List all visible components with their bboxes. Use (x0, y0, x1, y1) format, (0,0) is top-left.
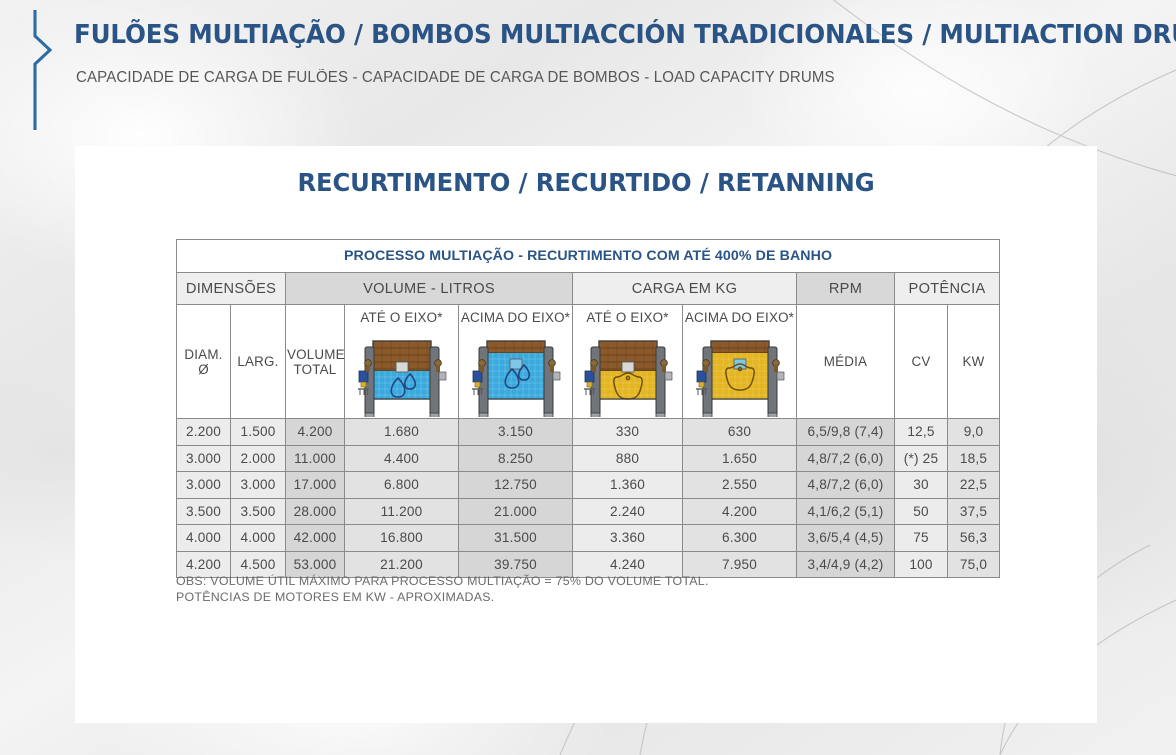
cell-vol_ate: 16.800 (345, 525, 459, 552)
cell-kw: 56,3 (948, 525, 1000, 552)
table-column-header-carga_ate: ATÉ O EIXO* (573, 305, 683, 419)
cell-carga_ate: 1.360 (573, 472, 683, 499)
cell-carga_ate: 330 (573, 419, 683, 446)
cell-rpm: 6,5/9,8 (7,4) (797, 419, 895, 446)
cell-cv: 50 (895, 498, 948, 525)
cell-vol_total: 17.000 (286, 472, 345, 499)
cell-larg: 1.500 (231, 419, 286, 446)
table-column-header-vol_total: VOLUME TOTAL (286, 305, 345, 419)
page-title: FULÕES MULTIAÇÃO / BOMBOS MULTIACCIÓN TR… (74, 20, 1136, 50)
table-column-header-vol_acima: ACIMA DO EIXO* (459, 305, 573, 419)
cell-carga_acima: 6.300 (683, 525, 797, 552)
cell-vol_acima: 21.000 (459, 498, 573, 525)
cell-vol_ate: 11.200 (345, 498, 459, 525)
cell-diam: 3.500 (177, 498, 231, 525)
cell-kw: 18,5 (948, 445, 1000, 472)
cell-larg: 3.000 (231, 472, 286, 499)
cell-kw: 22,5 (948, 472, 1000, 499)
cell-carga_ate: 880 (573, 445, 683, 472)
cell-diam: 3.000 (177, 472, 231, 499)
section-title: RECURTIMENTO / RECURTIDO / RETANNING (90, 168, 1081, 197)
cell-carga_ate: 2.240 (573, 498, 683, 525)
table-banner-row: PROCESSO MULTIAÇÃO - RECURTIMENTO COM AT… (177, 240, 1000, 273)
table-column-header-larg: LARG. (231, 305, 286, 419)
cell-kw: 75,0 (948, 551, 1000, 578)
table-row: 3.5003.50028.00011.20021.0002.2404.2004,… (177, 498, 1000, 525)
table-banner: PROCESSO MULTIAÇÃO - RECURTIMENTO COM AT… (177, 240, 1000, 273)
cell-cv: 75 (895, 525, 948, 552)
table-column-header-kw: KW (948, 305, 1000, 419)
column-caption-vol_acima: ACIMA DO EIXO* (459, 310, 572, 325)
cell-vol_acima: 3.150 (459, 419, 573, 446)
table-group-header-row: DIMENSÕESVOLUME - LITROSCARGA EM KGRPMPO… (177, 273, 1000, 305)
table-group-header-pot-ncia: POTÊNCIA (895, 273, 1000, 305)
cell-cv: (*) 25 (895, 445, 948, 472)
drum-water-high-icon (459, 333, 572, 417)
cell-rpm: 4,8/7,2 (6,0) (797, 472, 895, 499)
page-subtitle: CAPACIDADE DE CARGA DE FULÕES - CAPACIDA… (76, 69, 835, 87)
drum-leather-high-icon (683, 333, 796, 417)
table-column-header-rpm: MÉDIA (797, 305, 895, 419)
cell-rpm: 4,1/6,2 (5,1) (797, 498, 895, 525)
table-group-header-volume-litros: VOLUME - LITROS (286, 273, 573, 305)
content-card: RECURTIMENTO / RECURTIDO / RETANNING PRO… (75, 146, 1097, 723)
cell-larg: 2.000 (231, 445, 286, 472)
cell-cv: 12,5 (895, 419, 948, 446)
cell-carga_acima: 1.650 (683, 445, 797, 472)
cell-vol_total: 42.000 (286, 525, 345, 552)
cell-rpm: 3,6/5,4 (4,5) (797, 525, 895, 552)
table-row: 3.0002.00011.0004.4008.2508801.6504,8/7,… (177, 445, 1000, 472)
cell-cv: 30 (895, 472, 948, 499)
table-footnote: OBS: VOLUME ÚTIL MÁXIMO PARA PROCESSO MU… (176, 574, 709, 605)
table-row: 2.2001.5004.2001.6803.1503306306,5/9,8 (… (177, 419, 1000, 446)
table-column-header-carga_acima: ACIMA DO EIXO* (683, 305, 797, 419)
cell-vol_acima: 8.250 (459, 445, 573, 472)
column-caption-carga_ate: ATÉ O EIXO* (573, 310, 682, 325)
cell-vol_total: 11.000 (286, 445, 345, 472)
table-column-header-vol_ate: ATÉ O EIXO* (345, 305, 459, 419)
cell-diam: 3.000 (177, 445, 231, 472)
cell-carga_ate: 3.360 (573, 525, 683, 552)
cell-kw: 9,0 (948, 419, 1000, 446)
cell-carga_acima: 4.200 (683, 498, 797, 525)
cell-vol_acima: 31.500 (459, 525, 573, 552)
cell-larg: 4.000 (231, 525, 286, 552)
cell-diam: 4.000 (177, 525, 231, 552)
capacity-table: PROCESSO MULTIAÇÃO - RECURTIMENTO COM AT… (176, 239, 1000, 578)
drum-leather-low-icon (573, 333, 682, 417)
table-column-header-diam: DIAM. Ø (177, 305, 231, 419)
column-caption-carga_acima: ACIMA DO EIXO* (683, 310, 796, 325)
cell-vol_total: 28.000 (286, 498, 345, 525)
cell-vol_acima: 12.750 (459, 472, 573, 499)
cell-rpm: 3,4/4,9 (4,2) (797, 551, 895, 578)
table-group-header-rpm: RPM (797, 273, 895, 305)
table-column-header-row: DIAM. ØLARG.VOLUME TOTALATÉ O EIXO* (177, 305, 1000, 419)
cell-cv: 100 (895, 551, 948, 578)
table-group-header-carga-em-kg: CARGA EM KG (573, 273, 797, 305)
chevron-accent-icon (26, 6, 58, 134)
cell-vol_ate: 4.400 (345, 445, 459, 472)
column-caption-vol_ate: ATÉ O EIXO* (345, 310, 458, 325)
table-row: 3.0003.00017.0006.80012.7501.3602.5504,8… (177, 472, 1000, 499)
cell-vol_ate: 6.800 (345, 472, 459, 499)
page-header: FULÕES MULTIAÇÃO / BOMBOS MULTIACCIÓN TR… (0, 0, 1176, 140)
table-group-header-dimens-es: DIMENSÕES (177, 273, 286, 305)
cell-vol_ate: 1.680 (345, 419, 459, 446)
cell-vol_total: 4.200 (286, 419, 345, 446)
table-row: 4.0004.00042.00016.80031.5003.3606.3003,… (177, 525, 1000, 552)
cell-diam: 2.200 (177, 419, 231, 446)
cell-carga_acima: 630 (683, 419, 797, 446)
cell-kw: 37,5 (948, 498, 1000, 525)
cell-carga_acima: 2.550 (683, 472, 797, 499)
drum-water-low-icon (345, 333, 458, 417)
table-column-header-cv: CV (895, 305, 948, 419)
cell-larg: 3.500 (231, 498, 286, 525)
cell-rpm: 4,8/7,2 (6,0) (797, 445, 895, 472)
